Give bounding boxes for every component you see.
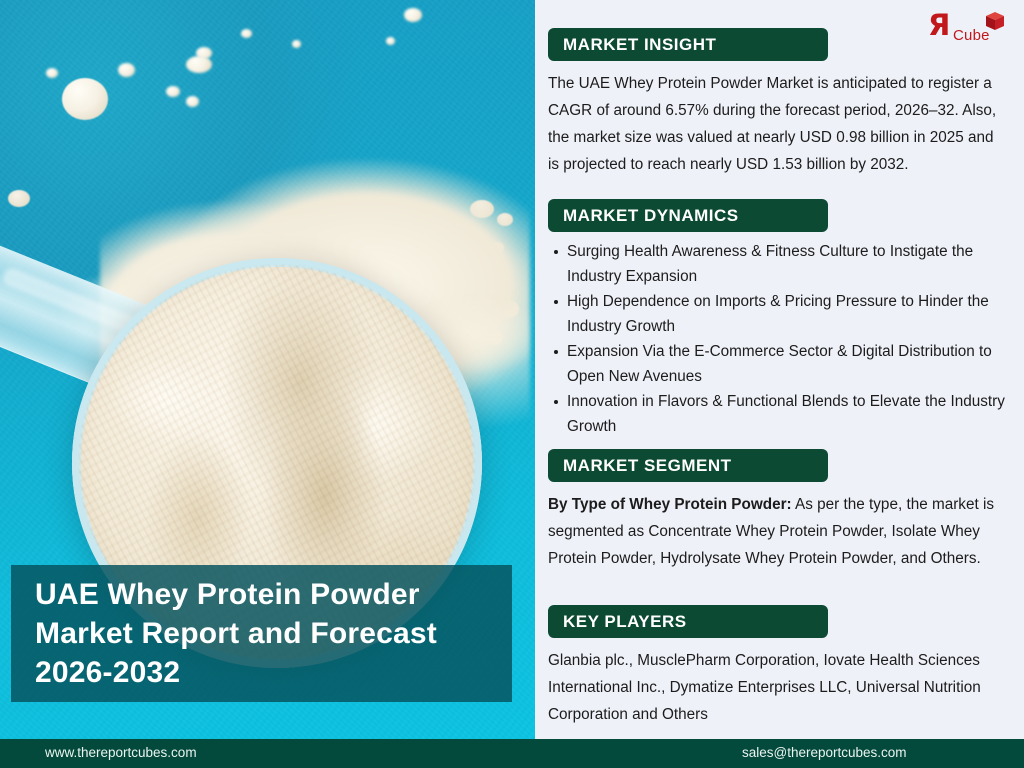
list-item: Innovation in Flavors & Functional Blend… — [567, 389, 1010, 439]
page-title: UAE Whey Protein Powder Market Report an… — [35, 575, 437, 692]
powder-blob — [8, 190, 30, 207]
powder-blob — [241, 29, 252, 38]
powder-blob — [292, 40, 301, 48]
market-dynamics-list: Surging Health Awareness & Fitness Cultu… — [548, 239, 1010, 439]
content-panel: Я Cube MARKET INSIGHT The UAE Whey Prote… — [535, 0, 1024, 740]
list-item: Surging Health Awareness & Fitness Cultu… — [567, 239, 1010, 289]
powder-blob — [404, 8, 422, 22]
footer-bar: www.thereportcubes.com sales@thereportcu… — [0, 739, 1024, 768]
infographic-page: UAE Whey Protein Powder Market Report an… — [0, 0, 1024, 768]
section-heading-label: KEY PLAYERS — [563, 612, 687, 632]
market-segment-lead: By Type of Whey Protein Powder: — [548, 496, 792, 513]
section-heading-label: MARKET DYNAMICS — [563, 206, 739, 226]
market-segment-paragraph: By Type of Whey Protein Powder: As per t… — [548, 491, 1008, 572]
footer-website-link[interactable]: www.thereportcubes.com — [45, 745, 197, 760]
section-heading-label: MARKET SEGMENT — [563, 456, 732, 476]
powder-blob — [186, 96, 199, 107]
powder-blob — [186, 56, 212, 73]
section-heading-pill: MARKET SEGMENT — [548, 449, 828, 482]
powder-blob — [118, 63, 135, 77]
section-heading-pill: KEY PLAYERS — [548, 605, 828, 638]
section-heading-pill: MARKET DYNAMICS — [548, 199, 828, 232]
list-item: Expansion Via the E-Commerce Sector & Di… — [567, 339, 1010, 389]
powder-blob — [62, 78, 108, 120]
section-heading-pill: MARKET INSIGHT — [548, 28, 828, 61]
powder-blob — [46, 68, 58, 78]
hero-image-panel: UAE Whey Protein Powder Market Report an… — [0, 0, 535, 740]
powder-blob — [166, 86, 180, 97]
section-market-dynamics: MARKET DYNAMICS Surging Health Awareness… — [548, 199, 1010, 439]
section-market-insight: MARKET INSIGHT The UAE Whey Protein Powd… — [548, 28, 1010, 178]
hero-title-box: UAE Whey Protein Powder Market Report an… — [11, 565, 512, 702]
list-item: High Dependence on Imports & Pricing Pre… — [567, 289, 1010, 339]
section-heading-label: MARKET INSIGHT — [563, 35, 716, 55]
section-key-players: KEY PLAYERS Glanbia plc., MusclePharm Co… — [548, 605, 1010, 728]
key-players-paragraph: Glanbia plc., MusclePharm Corporation, I… — [548, 647, 1008, 728]
footer-email-link[interactable]: sales@thereportcubes.com — [742, 745, 907, 760]
market-insight-paragraph: The UAE Whey Protein Powder Market is an… — [548, 70, 1008, 178]
section-market-segment: MARKET SEGMENT By Type of Whey Protein P… — [548, 449, 1010, 572]
powder-blob — [386, 37, 395, 45]
